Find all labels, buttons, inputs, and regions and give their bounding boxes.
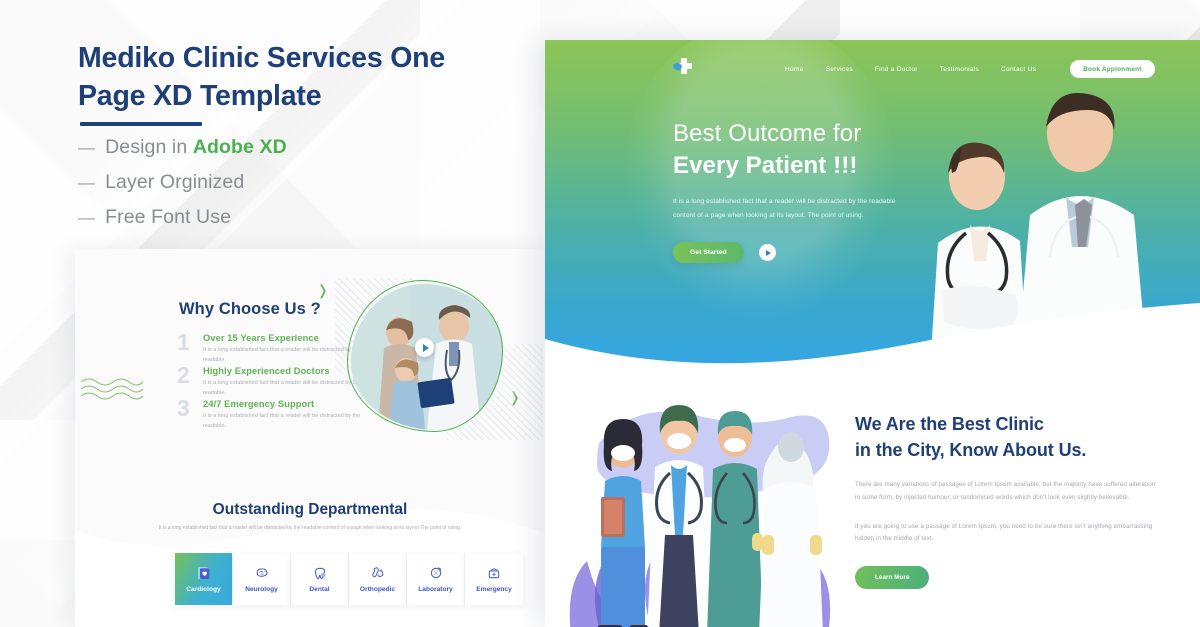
microscope-flask-icon [428,565,444,581]
template-preview-card: Why Choose Us ? 1 Over 15 Years Experien… [75,249,545,627]
departmental-subtitle: It is a long established fact that a rea… [157,523,463,533]
about-title-line2: in the City, Know About Us. [855,440,1086,460]
feature-highlight: Adobe XD [193,136,287,158]
about-paragraph-2: If you are going to use a passage of Lor… [855,521,1160,546]
medical-cross-logo[interactable] [672,56,694,81]
hero-wave-divider [545,281,1200,370]
dash-icon: — [78,138,95,158]
about-section: We Are the Best Clinic in the City, Know… [855,412,1160,589]
brain-icon [254,565,270,581]
get-started-button[interactable]: Get Started [673,242,744,263]
wave-decoration [79,377,143,403]
tab-label: Dental [309,586,329,593]
feature-list: — Design in Adobe XD — Layer Orginized —… [78,136,508,241]
about-title: We Are the Best Clinic in the City, Know… [855,412,1160,463]
departmental-title: Outstanding Departmental [75,501,545,519]
feature-text: Free Font Use [105,206,231,229]
department-tabs: Cardiology Neurology Dental [175,553,523,605]
feature-item: — Layer Orginized [78,171,508,194]
tab-orthopedic[interactable]: Orthopedic [349,553,407,605]
heart-monitor-icon [196,565,212,581]
play-icon[interactable] [415,338,434,357]
hero-section: Home Services Find a Doctor Testimonials… [545,40,1200,370]
dash-icon: — [78,173,95,193]
nav-item-services[interactable]: Services [826,66,853,73]
tab-label: Laboratory [418,586,452,593]
bone-joint-icon [370,565,386,581]
feature-item: — Free Font Use [78,206,508,229]
learn-more-button[interactable]: Learn More [855,566,929,589]
website-preview-panel: Home Services Find a Doctor Testimonials… [545,40,1200,627]
ambulance-icon [486,565,502,581]
why-choose-us-video-thumbnail[interactable] [337,272,517,442]
feature-item: — Design in Adobe XD [78,136,508,159]
medical-team-illustration [557,385,842,627]
tab-laboratory[interactable]: Laboratory [407,553,465,605]
tab-label: Emergency [476,586,512,593]
about-paragraph-1: There are many variations of passages of… [855,479,1160,504]
tab-label: Neurology [245,586,278,593]
why-item-number: 2 [177,364,194,399]
hero-actions: Get Started [673,242,776,263]
about-title-line1: We Are the Best Clinic [855,414,1044,434]
feature-text: Layer Orginized [105,171,244,194]
play-icon[interactable] [759,244,776,261]
promo-panel: Mediko Clinic Services One Page XD Templ… [0,0,545,627]
tab-neurology[interactable]: Neurology [233,553,291,605]
page-title: Mediko Clinic Services One Page XD Templ… [78,40,518,115]
dash-icon: — [78,208,95,228]
tab-emergency[interactable]: Emergency [465,553,523,605]
tab-label: Orthopedic [360,586,395,593]
hero-heading-line1: Best Outcome for [673,120,861,147]
why-item-number: 3 [177,397,194,432]
title-underline [80,122,202,126]
feature-text: Design in Adobe XD [105,136,287,159]
why-choose-us-title: Why Choose Us ? [179,300,321,319]
nav-item-home[interactable]: Home [785,66,804,73]
tooth-icon [312,565,328,581]
tab-cardiology[interactable]: Cardiology [175,553,233,605]
chevron-right-icon: ❭ [317,282,329,299]
tab-dental[interactable]: Dental [291,553,349,605]
tab-label: Cardiology [186,586,220,593]
why-item-number: 1 [177,331,194,366]
